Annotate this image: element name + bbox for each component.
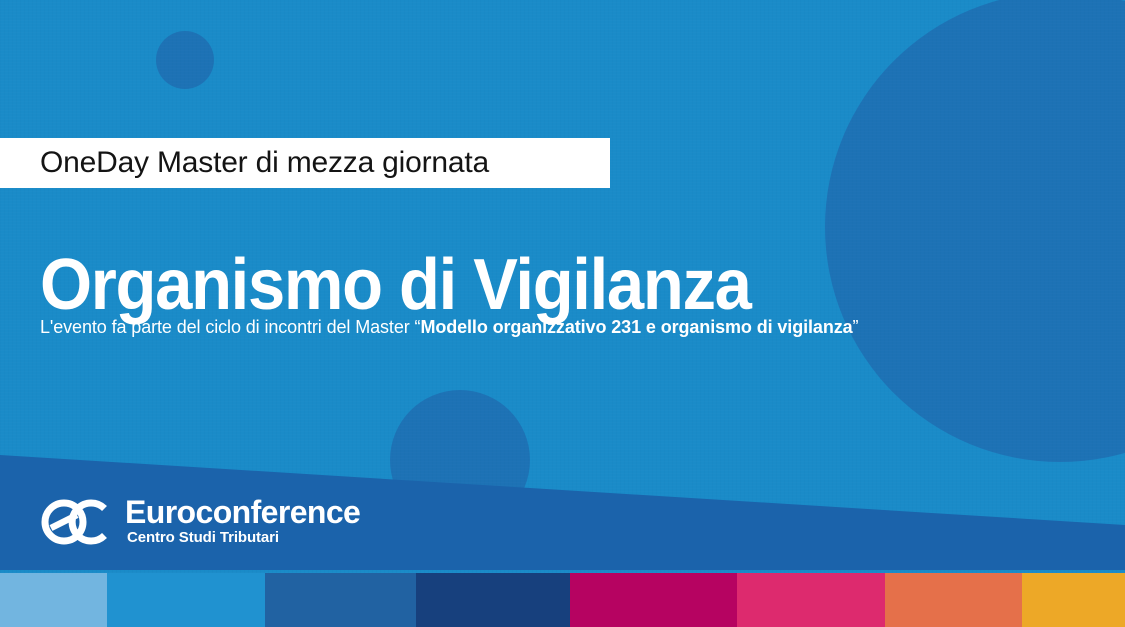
color-swatch-navy-blue bbox=[416, 573, 570, 627]
color-swatch-medium-blue bbox=[265, 573, 416, 627]
color-swatch-light-blue bbox=[0, 573, 107, 627]
logo-tagline: Centro Studi Tributari bbox=[125, 529, 360, 547]
eyebrow-label: OneDay Master di mezza giornata bbox=[40, 146, 489, 180]
color-strip bbox=[0, 573, 1125, 627]
eyebrow-label-box: OneDay Master di mezza giornata bbox=[0, 138, 610, 188]
color-swatch-yellow bbox=[1022, 573, 1125, 627]
logo-name: Euroconference bbox=[125, 496, 360, 529]
decorative-circle-large bbox=[825, 0, 1125, 462]
color-swatch-pink bbox=[737, 573, 885, 627]
event-banner: OneDay Master di mezza giornata Organism… bbox=[0, 0, 1125, 627]
subtitle-emphasis: Modello organizzativo 231 e organismo di… bbox=[420, 317, 852, 337]
color-swatch-bright-blue bbox=[107, 573, 265, 627]
ec-monogram-icon bbox=[40, 498, 112, 546]
page-title: Organismo di Vigilanza bbox=[40, 244, 751, 326]
color-swatch-magenta bbox=[570, 573, 737, 627]
decorative-circle-small bbox=[156, 31, 214, 89]
logo-wordmark: Euroconference Centro Studi Tributari bbox=[125, 496, 360, 547]
color-swatch-orange bbox=[885, 573, 1022, 627]
subtitle-suffix: ” bbox=[853, 317, 859, 337]
subtitle-prefix: L'evento fa parte del ciclo di incontri … bbox=[40, 317, 420, 337]
euroconference-logo: Euroconference Centro Studi Tributari bbox=[40, 496, 360, 547]
subtitle: L'evento fa parte del ciclo di incontri … bbox=[40, 315, 858, 339]
